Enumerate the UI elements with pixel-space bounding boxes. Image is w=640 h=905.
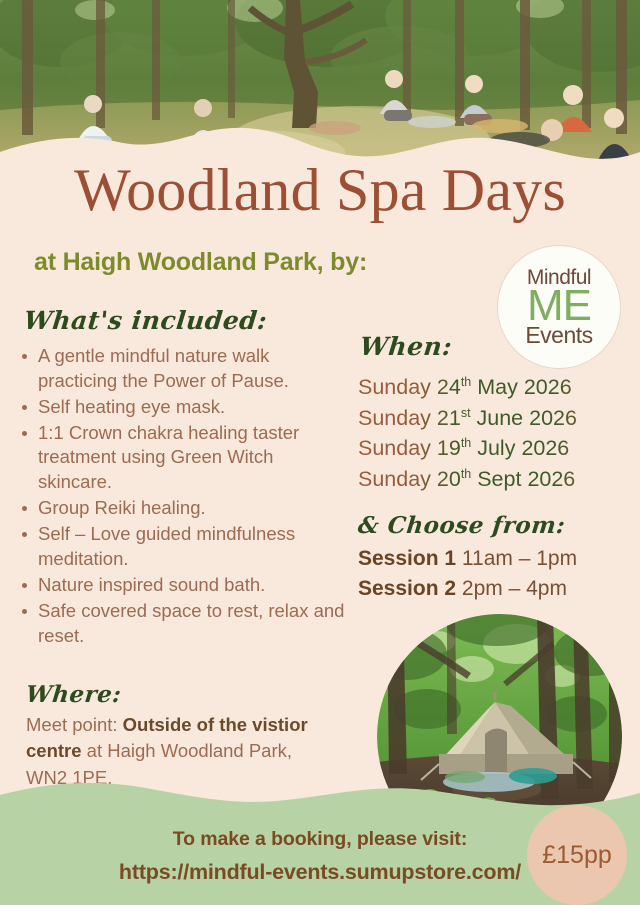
date-row: Sunday 21st June 2026 [358, 403, 633, 434]
date-day: Sunday [358, 375, 431, 399]
price-badge: £15pp [527, 805, 627, 905]
date-number: 20 [437, 467, 461, 491]
session-row: Session 1 11am – 1pm [358, 544, 633, 574]
date-ordinal: th [461, 375, 471, 389]
session-time: 11am – 1pm [462, 547, 577, 570]
brand-logo: Mindful ME Events [498, 246, 620, 368]
page-title: Woodland Spa Days [0, 160, 640, 220]
session-row: Session 2 2pm – 4pm [358, 574, 633, 604]
date-row: Sunday 19th July 2026 [358, 433, 633, 464]
session-list: Session 1 11am – 1pm Session 2 2pm – 4pm [358, 544, 633, 604]
date-number: 19 [437, 436, 461, 460]
choose-heading: & Choose from: [357, 512, 567, 539]
list-item: A gentle mindful nature walk practicing … [18, 344, 348, 393]
list-item: Self – Love guided mindfulness meditatio… [18, 522, 348, 571]
date-day: Sunday [358, 406, 431, 430]
included-list: A gentle mindful nature walk practicing … [18, 344, 348, 650]
date-month: Sept [477, 467, 521, 491]
included-heading: What's included: [22, 306, 268, 335]
date-month: June [477, 406, 524, 430]
list-item: Group Reiki healing. [18, 496, 348, 521]
date-year: 2026 [524, 375, 572, 399]
date-number: 21 [437, 406, 461, 430]
hero-photo [0, 0, 640, 175]
poster-root: Woodland Spa Days at Haigh Woodland Park… [0, 0, 640, 905]
session-time: 2pm – 4pm [462, 577, 567, 600]
hero-illustration [0, 0, 640, 175]
logo-text-bottom: Events [525, 324, 592, 347]
date-year: 2026 [521, 436, 569, 460]
date-year: 2026 [527, 467, 575, 491]
list-item: 1:1 Crown chakra healing taster treatmen… [18, 421, 348, 495]
logo-text-monogram: ME [527, 286, 591, 326]
where-prefix: Meet point: [26, 714, 123, 735]
date-row: Sunday 20th Sept 2026 [358, 464, 633, 495]
session-label: Session 2 [358, 577, 456, 600]
date-row: Sunday 24th May 2026 [358, 372, 633, 403]
date-number: 24 [437, 375, 461, 399]
date-year: 2026 [529, 406, 577, 430]
date-month: July [477, 436, 515, 460]
when-date-list: Sunday 24th May 2026 Sunday 21st June 20… [358, 372, 633, 494]
date-ordinal: th [461, 436, 471, 450]
date-ordinal: st [461, 405, 471, 419]
where-heading: Where: [25, 681, 123, 708]
date-day: Sunday [358, 467, 431, 491]
list-item: Nature inspired sound bath. [18, 573, 348, 598]
session-label: Session 1 [358, 547, 456, 570]
date-day: Sunday [358, 436, 431, 460]
date-month: May [477, 375, 518, 399]
list-item: Self heating eye mask. [18, 395, 348, 420]
page-subtitle: at Haigh Woodland Park, by: [34, 248, 367, 277]
date-ordinal: th [461, 466, 471, 480]
list-item: Safe covered space to rest, relax and re… [18, 599, 348, 648]
when-heading: When: [358, 332, 453, 361]
